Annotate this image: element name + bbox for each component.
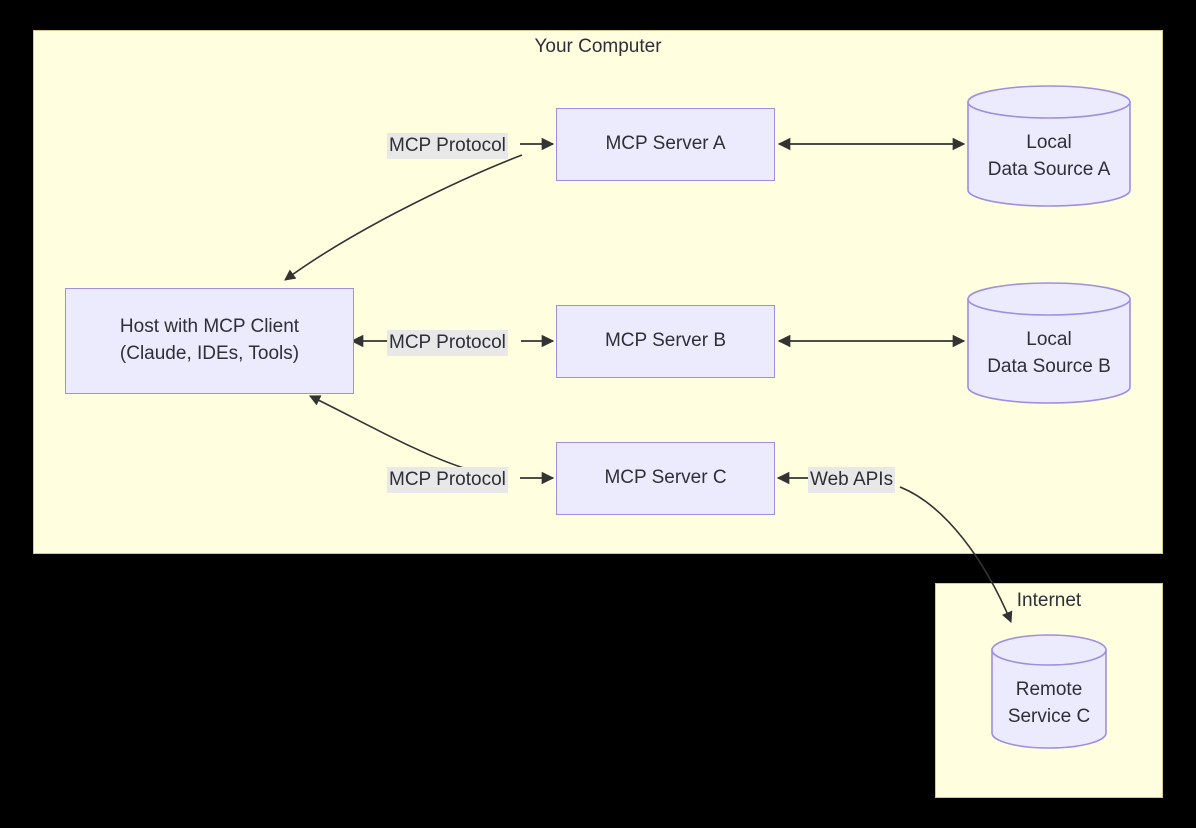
cylinder-shape-a [966,84,1132,208]
diagram-canvas: Your Computer Internet [0,0,1196,828]
node-remote-service-c[interactable]: Remote Service C [990,633,1108,750]
edge-label-web-apis: Web APIs [808,467,895,493]
node-mcp-server-b-label: MCP Server B [605,328,726,355]
edge-label-host-server-c: MCP Protocol [387,467,508,493]
edge-server-c-remote-c-curve [900,487,1011,622]
edge-label-host-server-a: MCP Protocol [387,133,508,159]
node-local-data-source-a[interactable]: Local Data Source A [966,84,1132,208]
node-host-line2: (Claude, IDEs, Tools) [120,343,299,364]
cylinder-shape-remote-c [990,633,1108,750]
node-host-line1: Host with MCP Client [120,316,299,337]
node-mcp-server-b[interactable]: MCP Server B [556,305,775,378]
node-mcp-server-c-label: MCP Server C [604,465,726,492]
edge-host-server-a-curve [285,155,522,280]
cylinder-shape-b [966,281,1132,405]
edge-host-server-c-curve [310,396,470,470]
node-local-data-source-b[interactable]: Local Data Source B [966,281,1132,405]
node-host-with-mcp-client[interactable]: Host with MCP Client (Claude, IDEs, Tool… [65,288,354,394]
node-mcp-server-a[interactable]: MCP Server A [556,108,775,181]
edge-label-host-server-b: MCP Protocol [387,330,508,356]
node-mcp-server-a-label: MCP Server A [605,131,725,158]
node-mcp-server-c[interactable]: MCP Server C [556,442,775,515]
